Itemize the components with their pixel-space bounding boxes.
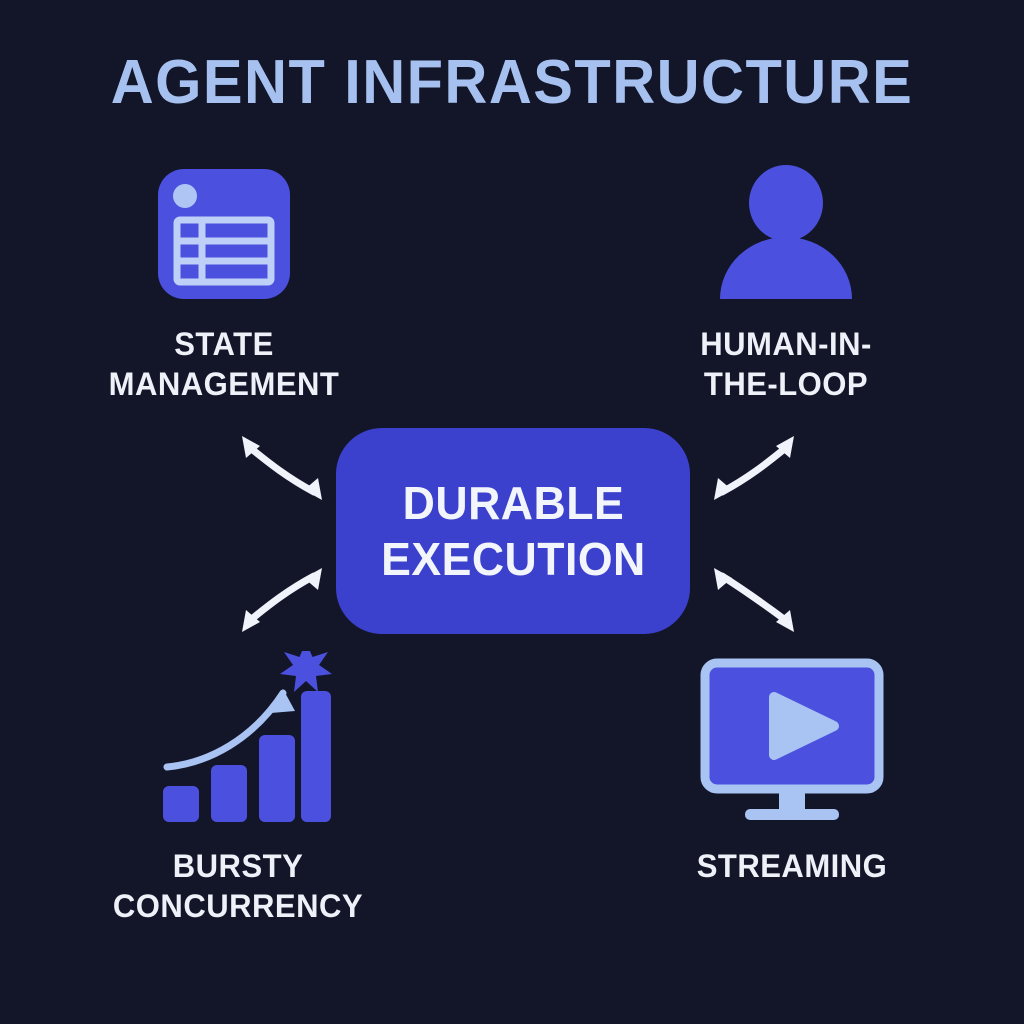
node-streaming-label: STREAMING bbox=[647, 846, 938, 886]
connector-hub-to-state-management bbox=[222, 420, 342, 520]
double-headed-curved-arrow-icon bbox=[242, 436, 322, 500]
hub-durable-execution[interactable]: DURABLE EXECUTION bbox=[336, 428, 690, 634]
double-headed-curved-arrow-icon bbox=[242, 568, 322, 632]
page-title: AGENT INFRASTRUCTURE bbox=[20, 48, 1003, 118]
node-state-management-label: STATE MANAGEMENT bbox=[79, 324, 370, 404]
streaming-icon-wrapper bbox=[642, 648, 942, 830]
hub-label: DURABLE EXECUTION bbox=[381, 475, 646, 587]
bursty-concurrency-icon-wrapper bbox=[88, 648, 388, 830]
node-state-management[interactable]: STATE MANAGEMENT bbox=[74, 158, 374, 404]
connector-hub-to-human-in-the-loop bbox=[694, 420, 814, 520]
node-streaming[interactable]: STREAMING bbox=[642, 648, 942, 886]
infographic-canvas: AGENT INFRASTRUCTURE STATE MANAGEMENT bbox=[0, 0, 1024, 1024]
node-bursty-concurrency[interactable]: BURSTY CONCURRENCY bbox=[88, 648, 388, 926]
connector-hub-to-bursty-concurrency bbox=[222, 548, 342, 648]
monitor-play-icon bbox=[692, 651, 892, 827]
node-human-in-the-loop[interactable]: HUMAN-IN- THE-LOOP bbox=[636, 158, 936, 404]
double-headed-curved-arrow-icon bbox=[714, 436, 794, 500]
connector-hub-to-streaming bbox=[694, 548, 814, 648]
database-table-icon bbox=[149, 158, 299, 308]
growth-bar-chart-icon bbox=[143, 651, 333, 827]
node-bursty-concurrency-label: BURSTY CONCURRENCY bbox=[93, 846, 384, 926]
human-in-the-loop-icon-wrapper bbox=[636, 158, 936, 308]
double-headed-curved-arrow-icon bbox=[714, 568, 794, 632]
node-human-in-the-loop-label: HUMAN-IN- THE-LOOP bbox=[641, 324, 932, 404]
state-management-icon-wrapper bbox=[74, 158, 374, 308]
person-icon bbox=[711, 158, 861, 308]
